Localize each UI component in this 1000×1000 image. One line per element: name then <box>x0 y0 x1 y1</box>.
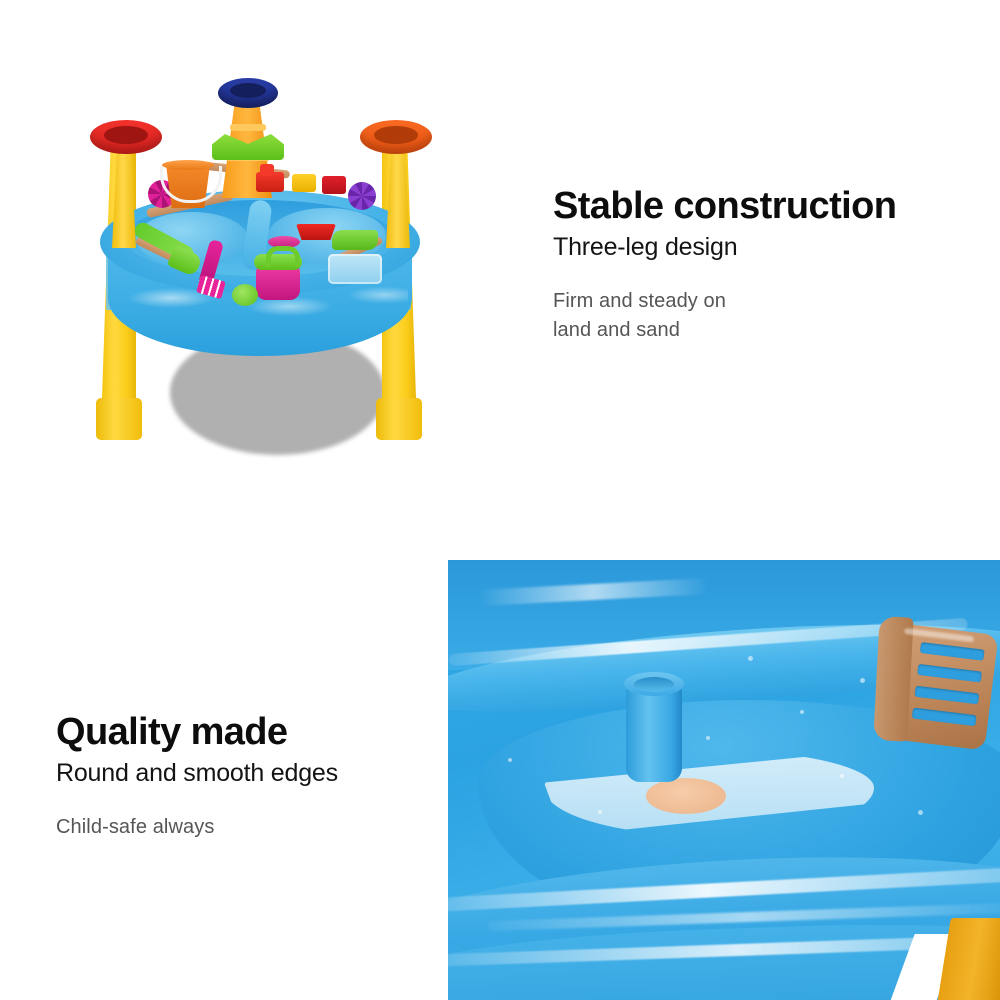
feature-text-quality-made: Quality made Round and smooth edges Chil… <box>56 712 476 842</box>
toy-train-red-cab <box>260 164 274 176</box>
basin-spout-cylinder <box>626 682 682 782</box>
table-foot-left <box>96 398 142 440</box>
funnel-blue-inner <box>230 83 266 98</box>
tower-rung <box>230 124 266 131</box>
toy-watering-can-spout <box>232 284 258 306</box>
water-droplet <box>598 810 602 814</box>
basin-tan-disc <box>646 778 726 814</box>
water-droplet <box>800 710 804 714</box>
toy-fish-green <box>332 230 378 250</box>
water-droplet <box>860 678 865 683</box>
water-droplet <box>918 810 923 815</box>
product-photo-full-table <box>60 40 460 490</box>
headline-stable-construction: Stable construction <box>553 186 983 226</box>
toy-train-crimson <box>322 176 346 194</box>
headline-quality-made: Quality made <box>56 712 476 752</box>
sifting-rake-icon <box>869 615 1000 754</box>
toy-watering-can-handle <box>266 246 300 267</box>
body-stable-construction: Firm and steady on land and sand <box>553 287 983 345</box>
toy-train-yellow <box>292 174 316 192</box>
waterwheel-purple <box>348 182 376 210</box>
body-line: land and sand <box>553 316 983 345</box>
body-line: Child-safe always <box>56 813 476 842</box>
top-panel: Stable construction Three-leg design Fir… <box>0 0 1000 540</box>
basin-spout-hole <box>634 677 674 692</box>
water-droplet <box>706 736 710 740</box>
water-droplet <box>508 758 512 762</box>
toy-train-blue <box>328 254 382 284</box>
marketing-collage: Stable construction Three-leg design Fir… <box>0 0 1000 1000</box>
body-line: Firm and steady on <box>553 287 983 316</box>
product-photo-basin-closeup <box>448 560 1000 1000</box>
sifting-rake-arm <box>873 616 913 742</box>
body-quality-made: Child-safe always <box>56 813 476 842</box>
funnel-orange-inner <box>374 126 418 144</box>
subhead-three-leg-design: Three-leg design <box>553 232 983 263</box>
funnel-red-inner <box>104 126 148 144</box>
water-droplet <box>840 774 844 778</box>
table-foot-right <box>376 398 422 440</box>
water-droplet <box>748 656 753 661</box>
subhead-round-smooth-edges: Round and smooth edges <box>56 758 476 789</box>
toy-boat-red <box>296 224 336 240</box>
feature-text-stable-construction: Stable construction Three-leg design Fir… <box>553 186 983 344</box>
toy-watering-can-body <box>256 266 300 300</box>
